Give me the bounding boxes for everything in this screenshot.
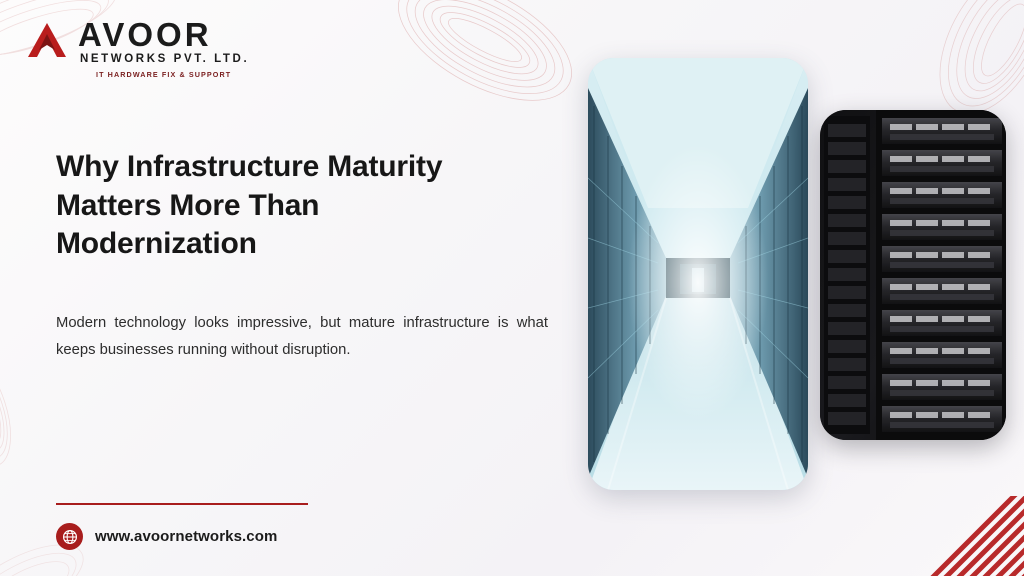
brand-name: AVOOR [78,18,249,51]
avoor-chevron-mark-icon [26,21,70,59]
brand-logo-text: AVOOR NETWORKS PVT. LTD. IT HARDWARE FIX… [78,18,249,78]
body-paragraph: Modern technology looks impressive, but … [56,310,548,364]
slide-canvas: AVOOR NETWORKS PVT. LTD. IT HARDWARE FIX… [0,0,1024,576]
globe-icon [56,523,83,550]
decorative-stripes-bottom-right [874,466,1024,576]
decorative-swirl-top-center [370,0,600,120]
page-title: Why Infrastructure Maturity Matters More… [56,148,526,264]
website-url-label: www.avoornetworks.com [95,528,277,545]
server-rack-image [820,110,1006,440]
brand-tagline: IT HARDWARE FIX & SUPPORT [78,71,249,78]
footer-divider [56,503,308,505]
footer-website[interactable]: www.avoornetworks.com [56,523,277,550]
brand-logo[interactable]: AVOOR NETWORKS PVT. LTD. IT HARDWARE FIX… [26,18,249,78]
datacenter-hallway-image [588,58,808,490]
brand-subtitle: NETWORKS PVT. LTD. [80,54,249,66]
